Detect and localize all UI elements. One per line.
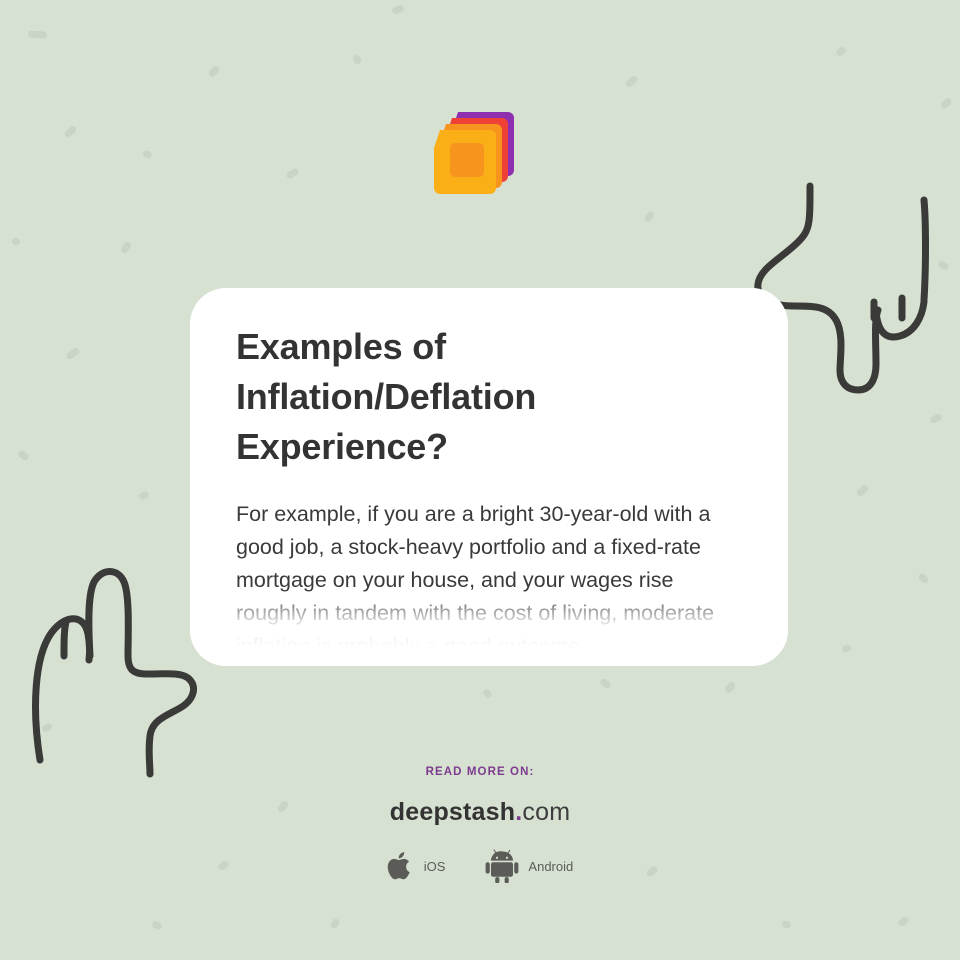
confetti-dash (65, 347, 80, 361)
apple-icon (387, 849, 415, 883)
confetti-dash (11, 237, 20, 246)
confetti-dash (897, 915, 910, 927)
confetti-dash (120, 241, 132, 255)
confetti-dash (723, 681, 736, 695)
ios-store-badge[interactable]: iOS (387, 849, 446, 883)
pointing-hand-up-icon (22, 560, 218, 782)
brand-name: deepstash (390, 798, 515, 826)
brand-tld: com (522, 798, 570, 826)
android-label: Android (528, 859, 573, 874)
confetti-dash (835, 46, 847, 58)
confetti-dash (63, 125, 77, 139)
read-more-label: READ MORE ON: (0, 766, 960, 778)
quote-card-content: Examples of Inflation/Deflation Experien… (190, 288, 788, 663)
android-store-badge[interactable]: Android (485, 849, 573, 883)
confetti-dash (939, 97, 952, 110)
footer: READ MORE ON: deepstash.com iOS (0, 766, 960, 883)
card-body-text: For example, if you are a bright 30-year… (236, 498, 742, 663)
confetti-dash (917, 572, 930, 585)
confetti-dash (855, 484, 869, 498)
confetti-dash (482, 688, 493, 699)
quote-card: Examples of Inflation/Deflation Experien… (190, 288, 788, 666)
confetti-dash (352, 53, 363, 65)
confetti-dash (643, 210, 655, 223)
poster-canvas: Examples of Inflation/Deflation Experien… (0, 0, 960, 960)
confetti-dash (285, 167, 300, 180)
confetti-dash (624, 75, 638, 89)
confetti-dash (17, 449, 30, 461)
android-icon (485, 849, 519, 883)
app-store-badges: iOS Android (0, 849, 960, 883)
page-title: Examples of Inflation/Deflation Experien… (236, 322, 626, 472)
confetti-dash (391, 4, 405, 14)
confetti-dash (151, 920, 163, 931)
confetti-dash (142, 150, 153, 160)
confetti-dash (929, 413, 943, 425)
confetti-dash (41, 722, 53, 733)
confetti-dash (329, 917, 341, 929)
confetti-dash (28, 31, 47, 39)
brand-wordmark: deepstash.com (0, 798, 960, 827)
confetti-dash (138, 490, 150, 501)
confetti-dash (937, 260, 950, 272)
confetti-dash (599, 677, 612, 689)
confetti-dash (781, 920, 792, 929)
deepstash-logo (430, 104, 516, 200)
confetti-dash (207, 65, 220, 79)
confetti-dash (841, 644, 852, 654)
ios-label: iOS (424, 859, 446, 874)
